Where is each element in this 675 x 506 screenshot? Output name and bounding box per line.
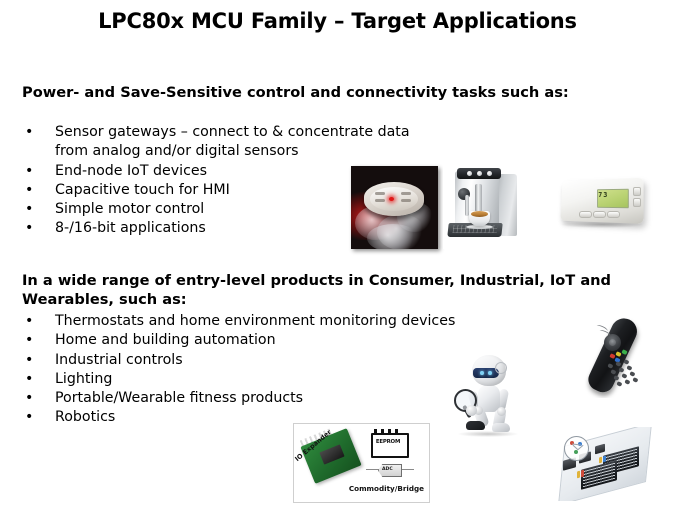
list-item: •Sensor gateways – connect to & concentr… xyxy=(22,123,442,162)
list-item-label: Sensor gateways – connect to & concentra… xyxy=(55,124,410,159)
coffee-crema xyxy=(471,211,488,217)
remote-key xyxy=(624,379,630,384)
thermostat-down-button xyxy=(633,198,641,207)
remote-key xyxy=(632,377,638,382)
robot-photo xyxy=(448,349,530,440)
bullet-marker-icon: • xyxy=(25,219,33,238)
thermostat-temperature-readout: 73 xyxy=(598,191,608,199)
machine-coffee-spout xyxy=(475,184,482,212)
robot-ear xyxy=(495,362,507,374)
coffee-machine-photo xyxy=(443,161,526,249)
status-indicator xyxy=(599,457,602,464)
bullet-marker-icon: • xyxy=(25,181,33,200)
eeprom-chip xyxy=(371,433,409,458)
robot-eye-icon xyxy=(488,371,492,375)
adc-input-wire xyxy=(366,469,379,470)
remote-key xyxy=(621,373,627,378)
alarm-led-icon xyxy=(389,197,394,201)
section-heading-entry-level: In a wide range of entry-level products … xyxy=(22,271,652,309)
machine-button xyxy=(487,171,492,176)
robot-right-foot xyxy=(492,423,510,432)
list-item-label: Simple motor control xyxy=(55,201,204,217)
detector-vent xyxy=(375,192,385,195)
thermostat-button xyxy=(593,211,606,218)
tv-remote-photo xyxy=(570,312,656,398)
bullet-marker-icon: • xyxy=(25,331,33,350)
bullet-marker-icon: • xyxy=(25,312,33,331)
bullet-marker-icon: • xyxy=(25,162,33,181)
section-heading-power-save: Power- and Save-Sensitive control and co… xyxy=(22,83,647,102)
detector-vent xyxy=(401,192,411,195)
remote-key xyxy=(623,359,629,364)
smoke-plume xyxy=(367,224,419,249)
status-indicator xyxy=(577,471,580,479)
diagram-caption: Commodity/Bridge xyxy=(332,484,424,493)
eeprom-label: EEPROM xyxy=(373,439,403,445)
robot-joint xyxy=(497,407,506,416)
remote-key xyxy=(629,371,635,376)
adc-label: ADC xyxy=(382,467,393,472)
thermostat-photo: 73 xyxy=(537,167,665,236)
bullet-marker-icon: • xyxy=(25,370,33,389)
bullet-marker-icon: • xyxy=(25,123,33,142)
list-item-label: Lighting xyxy=(55,371,112,387)
list-item-label: Home and building automation xyxy=(55,332,276,348)
list-item: •Thermostats and home environment monito… xyxy=(22,312,562,331)
slide-canvas: LPC80x MCU Family – Target Applications … xyxy=(0,0,675,506)
remote-key xyxy=(626,365,632,370)
bullet-marker-icon: • xyxy=(25,389,33,408)
detector-vent xyxy=(375,199,385,202)
bullet-marker-icon: • xyxy=(25,408,33,427)
list-item-label: 8-/16-bit applications xyxy=(55,220,206,236)
adc-output-wire xyxy=(400,469,414,470)
robot-left-foot xyxy=(466,421,485,430)
robot-eye-icon xyxy=(480,371,484,375)
thermostat-button xyxy=(607,211,620,218)
page-title: LPC80x MCU Family – Target Applications xyxy=(0,9,675,33)
list-item-label: Robotics xyxy=(55,409,115,425)
smoke-detector-photo xyxy=(351,166,438,249)
machine-button xyxy=(467,171,472,176)
bullet-marker-icon: • xyxy=(25,351,33,370)
thermostat-up-button xyxy=(633,187,641,196)
list-item: •Home and building automation xyxy=(22,331,562,350)
bullet-marker-icon: • xyxy=(25,200,33,219)
list-item-label: Capacitive touch for HMI xyxy=(55,182,230,198)
thermostat-button xyxy=(579,211,592,218)
commodity-bridge-diagram: IO Expander EEPROM ADC Commodity/Bridge xyxy=(293,423,430,503)
building-automation-diagram xyxy=(551,427,665,501)
detector-vent xyxy=(401,199,411,202)
robot-shadow xyxy=(458,431,518,437)
robot-hand xyxy=(466,405,477,416)
status-indicator xyxy=(603,456,606,463)
remote-key xyxy=(616,381,622,386)
machine-button xyxy=(477,171,482,176)
list-item-label: Industrial controls xyxy=(55,352,183,368)
status-indicator xyxy=(581,470,584,478)
list-item-label: Thermostats and home environment monitor… xyxy=(55,313,455,329)
list-item-label: End-node IoT devices xyxy=(55,163,207,179)
list-item-label: Portable/Wearable fitness products xyxy=(55,390,303,406)
